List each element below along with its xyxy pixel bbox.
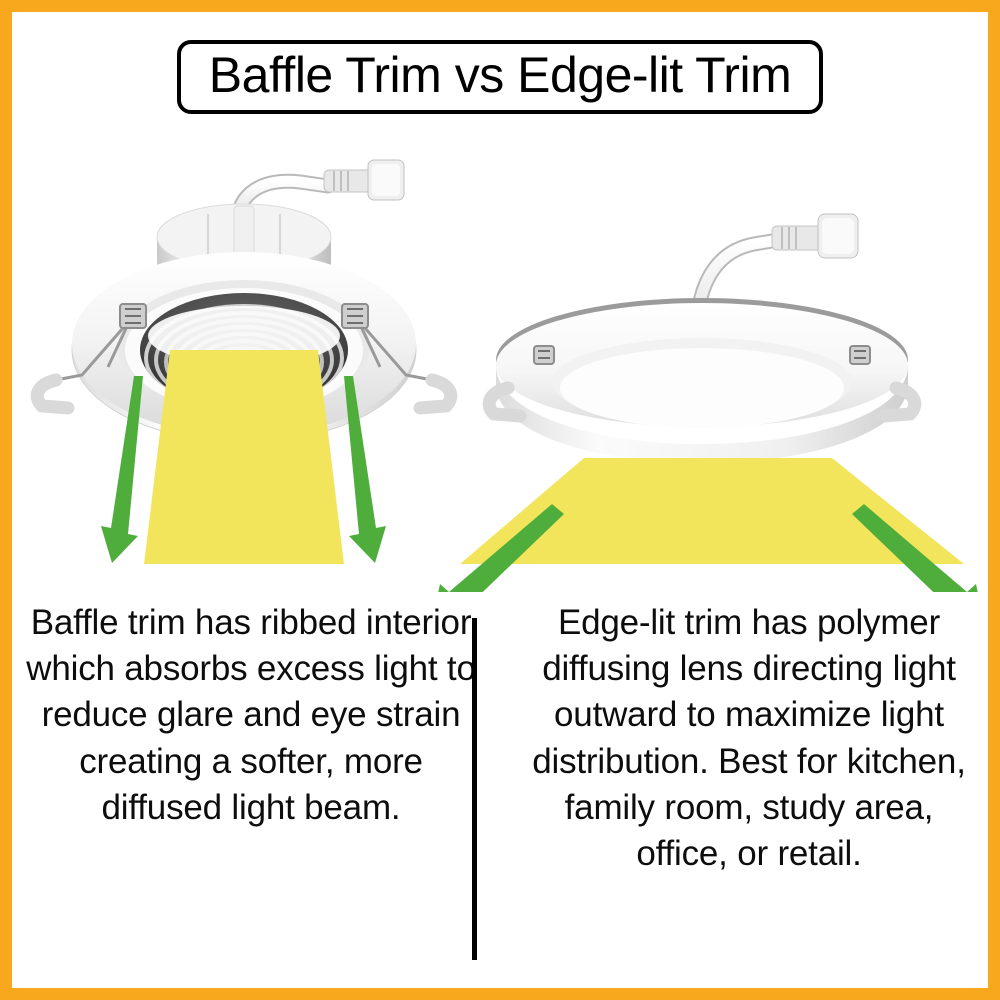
baffle-description: Baffle trim has ribbed interior which ab…	[26, 600, 476, 831]
right-fixture-edge-lit-trim	[432, 214, 984, 592]
fixtures-illustration	[12, 122, 988, 592]
left-cable-connector	[324, 160, 404, 200]
left-light-beam	[144, 350, 344, 564]
title-container: Baffle Trim vs Edge-lit Trim	[12, 40, 988, 114]
column-divider	[472, 618, 477, 960]
right-cable-connector	[772, 214, 858, 258]
column-baffle: Baffle trim has ribbed interior which ab…	[12, 600, 500, 831]
page-title: Baffle Trim vs Edge-lit Trim	[209, 50, 791, 100]
title-box: Baffle Trim vs Edge-lit Trim	[177, 40, 823, 114]
infographic-root: Baffle Trim vs Edge-lit Trim	[0, 0, 1000, 1000]
illustration-stage	[12, 122, 988, 592]
comparison-columns: Baffle trim has ribbed interior which ab…	[12, 600, 988, 980]
right-panel-body	[496, 298, 908, 463]
edge-lit-description: Edge-lit trim has polymer diffusing lens…	[524, 600, 974, 877]
left-fixture-baffle-trim	[37, 160, 451, 564]
column-edge-lit: Edge-lit trim has polymer diffusing lens…	[500, 600, 988, 877]
